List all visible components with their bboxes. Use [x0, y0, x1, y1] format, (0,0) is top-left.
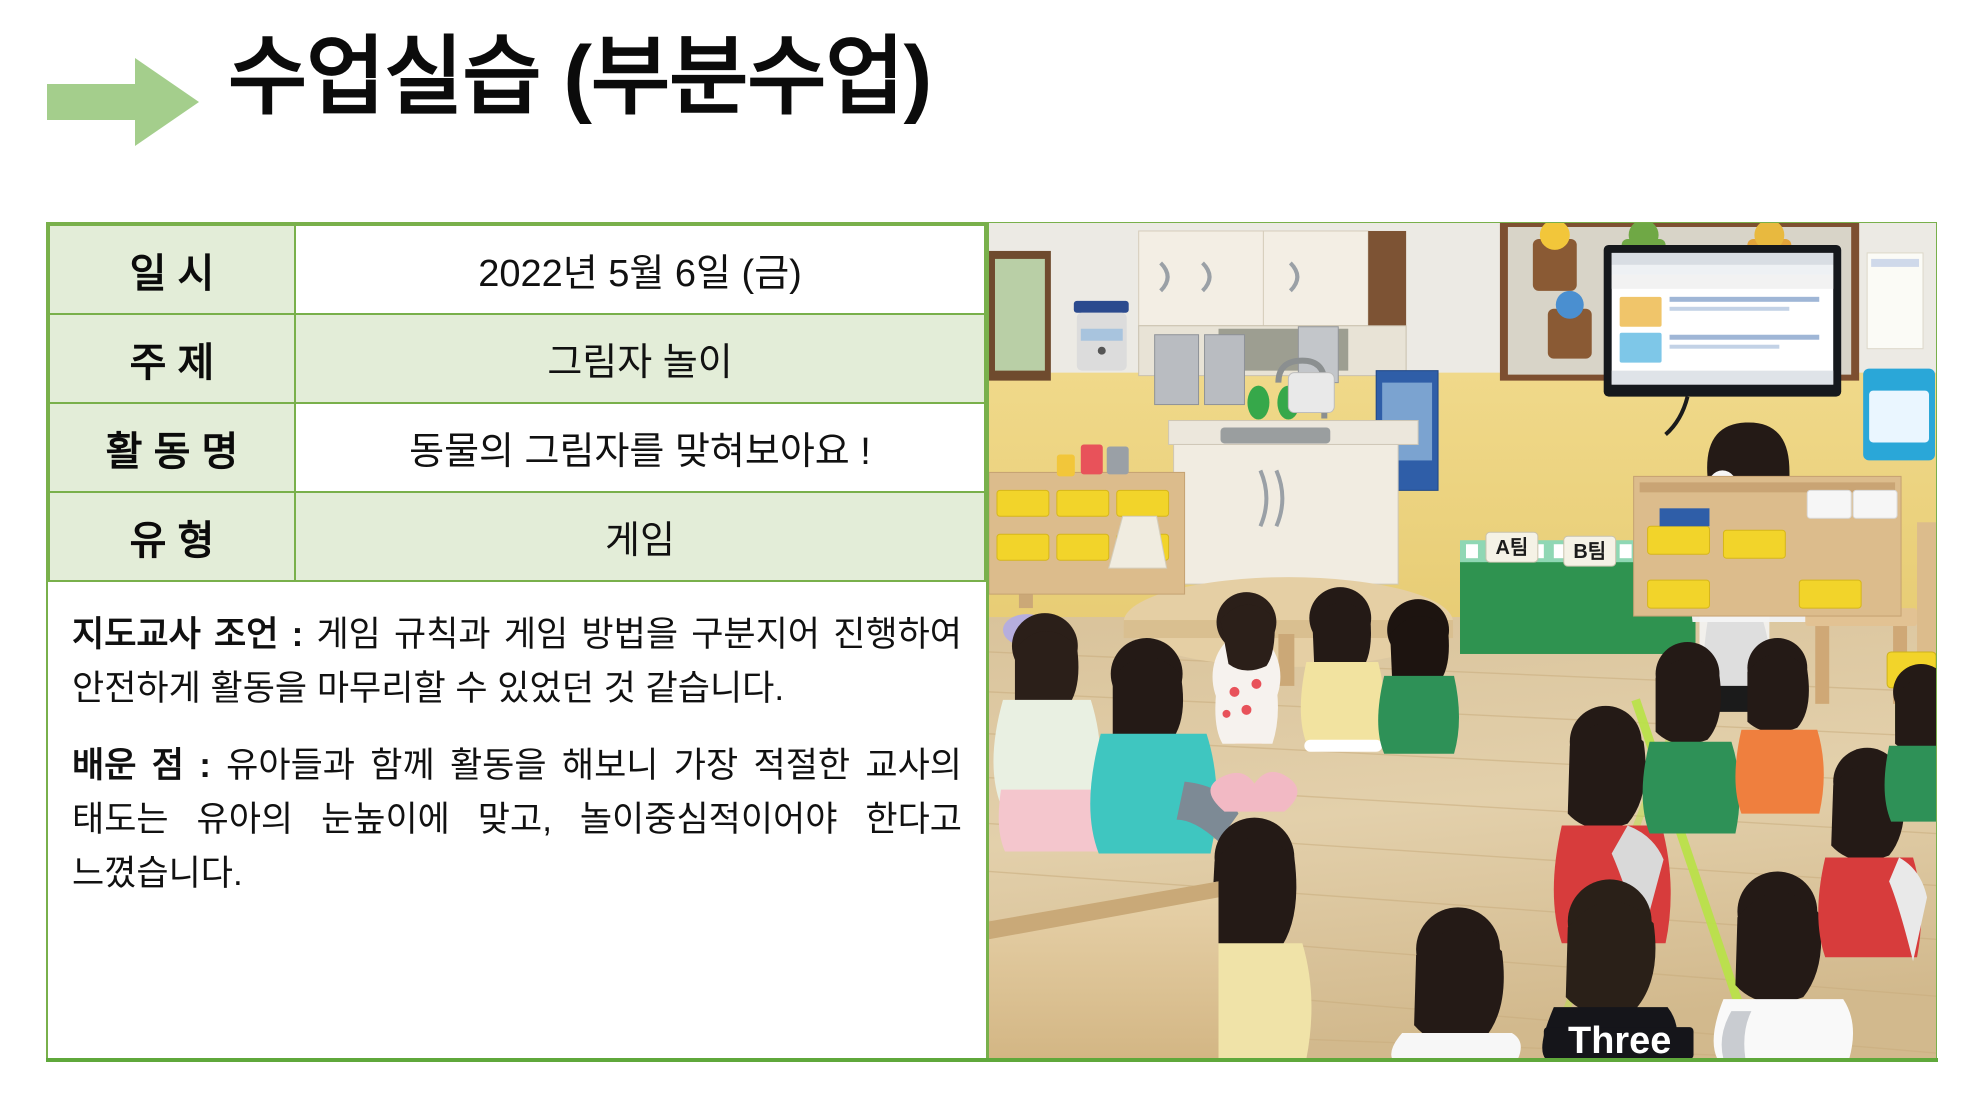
- table-row-value: 그림자 놀이: [295, 314, 985, 403]
- title-row: 수업실습 (부분수업): [0, 0, 1978, 170]
- note-lead: 지도교사 조언 :: [72, 615, 303, 654]
- table-row-value: 동물의 그림자를 맞혀보아요 !: [295, 403, 985, 492]
- bottom-divider: [46, 1058, 1938, 1062]
- note-teacher-advice: 지도교사 조언 : 게임 규칙과 게임 방법을 구분지어 진행하여 안전하게 활…: [72, 608, 962, 717]
- svg-text:A팀: A팀: [1496, 536, 1529, 559]
- label-text: 유 형: [130, 508, 215, 566]
- page-title: 수업실습 (부분수업): [228, 28, 931, 127]
- right-arrow-icon: [47, 58, 199, 146]
- info-panel: 일 시 2022년 5월 6일 (금) 주 제 그림자 놀이 활 동 명 동물의…: [46, 222, 988, 1062]
- table-row-value: 게임: [295, 492, 985, 581]
- table-row-label: 일 시: [49, 225, 295, 314]
- table-row-label: 활 동 명: [49, 403, 295, 492]
- svg-text:B팀: B팀: [1573, 540, 1606, 563]
- table-row: 일 시 2022년 5월 6일 (금): [49, 225, 985, 314]
- note-lessons-learned: 배운 점 : 유아들과 함께 활동을 해보니 가장 적절한 교사의 태도는 유아…: [72, 739, 962, 902]
- table-row-value: 2022년 5월 6일 (금): [295, 225, 985, 314]
- table-row-label: 주 제: [49, 314, 295, 403]
- table-row: 활 동 명 동물의 그림자를 맞혀보아요 !: [49, 403, 985, 492]
- note-lead: 배운 점 :: [72, 746, 211, 785]
- slide: 수업실습 (부분수업) 일 시 2022년 5월 6일 (금) 주 제 그림자 …: [0, 0, 1978, 1104]
- info-table: 일 시 2022년 5월 6일 (금) 주 제 그림자 놀이 활 동 명 동물의…: [48, 224, 986, 582]
- table-row: 주 제 그림자 놀이: [49, 314, 985, 403]
- label-text: 일 시: [130, 241, 215, 299]
- table-row-label: 유 형: [49, 492, 295, 581]
- label-text: 주 제: [130, 330, 215, 388]
- notes-section: 지도교사 조언 : 게임 규칙과 게임 방법을 구분지어 진행하여 안전하게 활…: [48, 582, 986, 901]
- label-text: 활 동 명: [106, 419, 239, 477]
- svg-text:Three: Three: [1568, 1020, 1671, 1059]
- classroom-photo: A팀 B팀: [988, 222, 1937, 1060]
- table-row: 유 형 게임: [49, 492, 985, 581]
